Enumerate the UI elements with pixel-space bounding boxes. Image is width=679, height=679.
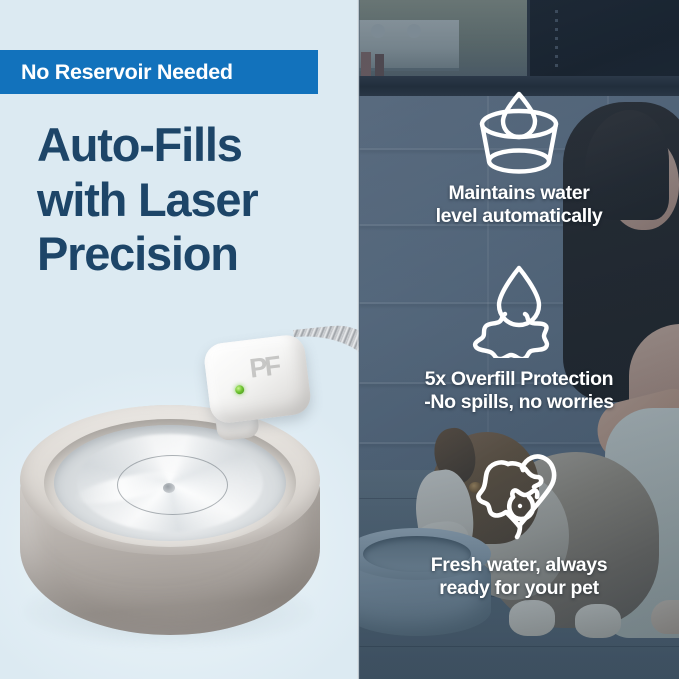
left-panel: No Reservoir Needed Auto-Fills with Lase… [0, 0, 359, 679]
product-photo: PF [0, 325, 359, 679]
no-reservoir-badge: No Reservoir Needed [0, 50, 318, 94]
status-led-indicator-icon [235, 385, 245, 395]
laser-sensor-module: PF [203, 333, 313, 425]
feature-item-2: 5x Overfill Protection -No spills, no wo… [359, 262, 679, 415]
water-droplet-spill-icon [465, 262, 573, 358]
product-marketing-image: No Reservoir Needed Auto-Fills with Lase… [0, 0, 679, 679]
right-panel: Maintains water level automatically 5x O… [359, 0, 679, 679]
water-center-jet [163, 483, 175, 493]
badge-label: No Reservoir Needed [0, 60, 233, 85]
heart-dog-cat-icon [468, 450, 570, 544]
feature-3-line-1: Fresh water, always [359, 554, 679, 577]
page-title: Auto-Fills with Laser Precision [37, 118, 357, 282]
feature-1-line-2: level automatically [359, 205, 679, 228]
swirling-water-surface [54, 425, 286, 541]
panel-divider [357, 0, 360, 679]
feature-1-line-1: Maintains water [359, 182, 679, 205]
feature-item-1: Maintains water level automatically [359, 88, 679, 229]
headline-line-2: with Laser [37, 173, 357, 228]
pf-brand-logo-icon: PF [247, 345, 291, 388]
feature-2-line-1: 5x Overfill Protection [359, 368, 679, 391]
headline-line-3: Precision [37, 227, 357, 282]
feature-item-3: Fresh water, always ready for your pet [359, 450, 679, 601]
feature-3-line-2: ready for your pet [359, 577, 679, 600]
feature-2-line-2: -No spills, no worries [359, 391, 679, 414]
water-bowl-level-icon [467, 88, 571, 174]
headline-line-1: Auto-Fills [37, 118, 357, 173]
